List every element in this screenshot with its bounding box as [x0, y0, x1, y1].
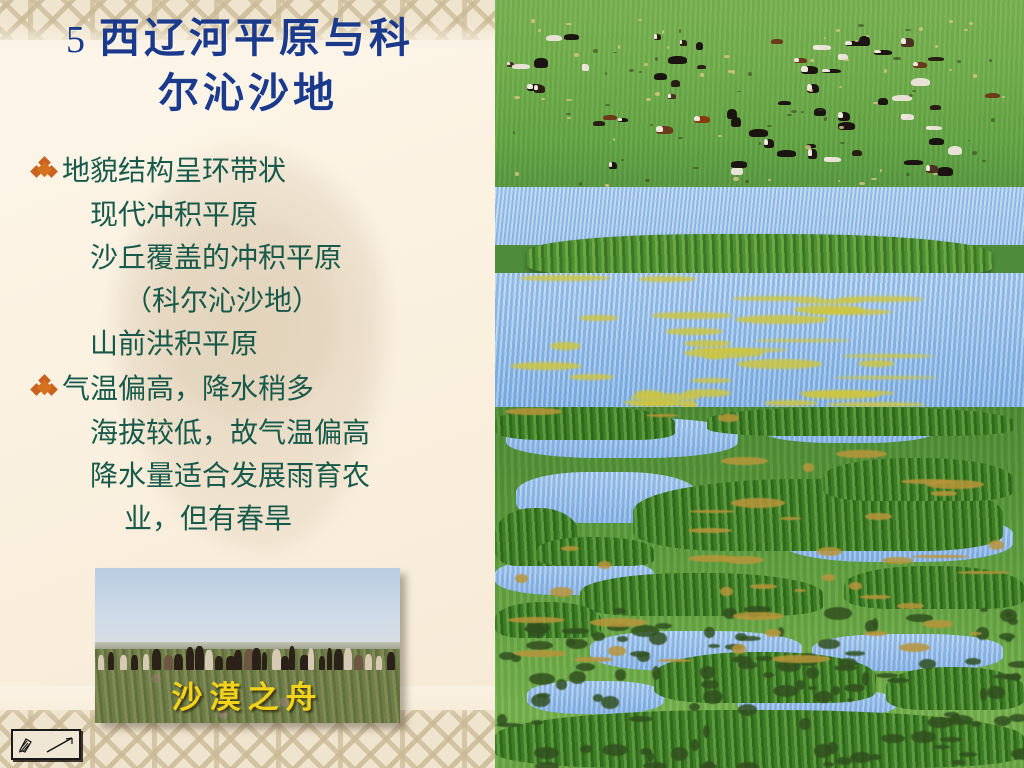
marsh-mud-clump — [703, 725, 710, 738]
camel — [120, 655, 127, 671]
camel — [131, 655, 138, 670]
marsh-mud-clump — [526, 641, 553, 650]
cow-marking — [656, 126, 663, 132]
marsh-mud-clump — [534, 747, 558, 759]
cow — [749, 129, 769, 137]
cow-marking — [845, 41, 853, 45]
marsh-straw-patch — [732, 644, 745, 653]
marsh-mud-clump — [808, 686, 817, 690]
marsh-mud-clump — [832, 686, 840, 695]
marsh-mud-clump — [535, 762, 559, 768]
marsh-mud-clump — [933, 745, 950, 749]
cow-marking — [822, 69, 830, 72]
ground-fleck — [972, 151, 978, 154]
marsh-mud-clump — [999, 633, 1015, 640]
cow-marking — [618, 118, 622, 121]
wetland-grassland-photo[interactable] — [495, 0, 1024, 768]
ground-fleck — [880, 169, 882, 171]
marsh-straw-patch — [731, 498, 785, 508]
marsh-mud-clump — [735, 633, 747, 640]
cow — [777, 150, 796, 157]
camel — [143, 654, 149, 670]
marsh-mud-clump — [839, 658, 857, 668]
photo-marsh-region — [495, 407, 1024, 768]
marsh-mud-clump — [700, 666, 715, 679]
marsh-mud-clump — [870, 754, 881, 760]
ground-fleck — [871, 178, 877, 181]
ground-fleck — [732, 70, 735, 73]
marsh-mud-clump — [940, 737, 962, 741]
cow — [731, 117, 741, 127]
marsh-mud-clump — [601, 696, 619, 709]
ground-fleck — [791, 110, 797, 113]
marsh-mud-clump — [845, 651, 865, 656]
ground-fleck — [514, 96, 520, 99]
ground-fleck — [824, 117, 827, 120]
camel-herd — [95, 636, 400, 670]
marsh-mud-clump — [806, 667, 819, 679]
cow — [603, 115, 617, 121]
cow-marking — [507, 62, 510, 65]
marsh-straw-patch — [561, 546, 578, 551]
ground-fleck — [838, 180, 840, 182]
marsh-mud-clump — [569, 671, 586, 684]
ground-fleck — [973, 74, 977, 77]
cow — [985, 93, 1000, 99]
ground-fleck — [613, 138, 615, 141]
marsh-mud-clump — [881, 734, 904, 743]
ground-fleck — [646, 98, 651, 101]
left-content-panel: 5西辽河平原与科 尔沁沙地 地貌结构呈环带状 现代冲积平原 沙丘覆盖的冲积平原 … — [0, 0, 495, 768]
marsh-straw-patch — [724, 556, 764, 564]
ground-fleck — [884, 69, 887, 73]
cow-marking — [913, 62, 919, 67]
reed-clump — [707, 407, 1014, 436]
marsh-mud-clump — [773, 685, 800, 697]
ground-fleck — [650, 124, 653, 126]
algae-patch — [834, 376, 937, 379]
marsh-straw-patch — [901, 479, 956, 484]
marsh-mud-clump — [818, 639, 839, 649]
ground-fleck — [678, 137, 683, 139]
ground-fleck — [991, 118, 995, 122]
algae-patch — [684, 340, 731, 347]
camel — [164, 655, 173, 671]
cow — [671, 80, 680, 87]
cow — [929, 138, 944, 145]
cow-marking — [801, 66, 808, 72]
title-number: 5 — [66, 19, 85, 61]
marsh-straw-patch — [733, 612, 784, 619]
algae-patch — [579, 315, 618, 321]
cow — [696, 42, 704, 51]
marsh-mud-clump — [1004, 674, 1021, 680]
marsh-straw-patch — [865, 513, 892, 520]
cow — [534, 58, 548, 67]
camel — [262, 652, 267, 671]
ground-fleck — [905, 29, 911, 31]
marsh-mud-clump — [952, 714, 960, 722]
bullet-heading: 气温偏高，降水稍多 — [62, 368, 314, 411]
algae-patch — [510, 362, 582, 370]
marsh-mud-clump — [763, 672, 773, 678]
title-text-1: 西辽河平原与科 — [99, 15, 414, 61]
bullet-subitem: 沙丘覆盖的冲积平原 — [90, 237, 477, 280]
algae-patch — [550, 342, 581, 351]
marsh-mud-clump — [1009, 714, 1024, 722]
pen-scribble-icon — [17, 736, 37, 754]
ground-fleck — [645, 179, 650, 182]
body-text-block: 地貌结构呈环带状 现代冲积平原 沙丘覆盖的冲积平原 （科尔沁沙地） 山前洪积平原… — [32, 150, 477, 543]
cow-marking — [694, 116, 700, 121]
marsh-straw-patch — [822, 574, 835, 580]
ground-fleck — [655, 57, 658, 61]
cow-marking — [838, 54, 842, 58]
algae-patch — [842, 354, 934, 358]
camel — [205, 650, 213, 670]
algae-patch — [569, 374, 614, 380]
cow — [937, 167, 953, 176]
ground-fleck — [839, 86, 842, 88]
marsh-straw-patch — [957, 571, 1010, 574]
marsh-mud-clump — [526, 622, 550, 634]
diamond-bullet-icon — [32, 158, 62, 188]
cow-marking — [764, 139, 768, 145]
bullet-group: 气温偏高，降水稍多 海拔较低，故气温偏高 降水量适合发展雨育农 业，但有春旱 — [32, 368, 477, 541]
camel-caravan-photo[interactable]: 沙漠之舟 — [95, 568, 400, 723]
marsh-mud-clump — [562, 628, 590, 633]
ground-fleck — [844, 59, 849, 61]
ground-fleck — [919, 27, 923, 31]
ground-fleck — [574, 53, 579, 57]
algae-patch — [858, 360, 896, 367]
ground-fleck — [935, 45, 938, 48]
camel — [252, 648, 262, 670]
algae-patch — [799, 390, 895, 396]
marsh-straw-patch — [970, 632, 981, 635]
cow — [697, 65, 706, 69]
marsh-mud-clump — [951, 760, 965, 765]
marsh-mud-clump — [629, 716, 653, 721]
camel — [334, 649, 343, 670]
bullet-heading-row: 气温偏高，降水稍多 — [32, 368, 477, 411]
camel — [387, 652, 395, 671]
ground-fleck — [618, 45, 620, 49]
ground-fleck — [724, 55, 729, 58]
ground-fleck — [896, 57, 901, 60]
marsh-mud-clump — [959, 752, 977, 757]
cow — [731, 161, 746, 167]
cow — [930, 105, 941, 109]
ground-fleck — [1002, 96, 1005, 98]
ground-fleck — [566, 23, 572, 25]
ground-fleck — [638, 19, 643, 21]
algae-patch — [638, 276, 696, 283]
ground-fleck — [989, 59, 992, 62]
camel — [234, 650, 242, 670]
camel — [308, 648, 314, 670]
cow-marking — [926, 126, 932, 129]
algae-patch — [794, 299, 863, 304]
marsh-mud-clump — [756, 656, 774, 661]
cow — [731, 167, 743, 175]
camel — [365, 654, 372, 671]
ground-fleck — [964, 29, 968, 31]
ground-fleck — [566, 99, 572, 101]
marsh-mud-clump — [592, 632, 605, 641]
marsh-mud-clump — [703, 690, 723, 704]
marsh-mud-clump — [827, 742, 838, 754]
marsh-mud-clump — [630, 651, 649, 657]
cow-marking — [838, 112, 843, 119]
ground-fleck — [855, 40, 858, 42]
ground-fleck — [982, 160, 985, 162]
marsh-straw-patch — [923, 620, 953, 629]
camel — [319, 656, 325, 670]
bullet-subitem: 山前洪积平原 — [90, 323, 477, 366]
marsh-straw-patch — [882, 557, 914, 564]
marsh-straw-patch — [574, 657, 612, 662]
marsh-mud-clump — [872, 618, 878, 630]
camel — [281, 656, 290, 670]
ground-fleck — [949, 20, 953, 22]
inset-photo-caption: 沙漠之舟 — [95, 672, 400, 717]
marsh-mud-clump — [876, 673, 898, 678]
ground-fleck — [859, 182, 864, 185]
cow-marking — [901, 114, 906, 118]
marsh-mud-clump — [652, 666, 660, 680]
ground-fleck — [768, 179, 771, 181]
ground-fleck — [613, 52, 617, 54]
marsh-mud-clump — [615, 669, 626, 681]
ground-fleck — [733, 177, 739, 181]
ground-fleck — [836, 29, 840, 32]
marsh-straw-patch — [750, 584, 778, 589]
slide-nav-button[interactable] — [11, 729, 81, 760]
reed-clump — [537, 537, 653, 566]
ground-fleck — [655, 92, 659, 96]
ground-fleck — [538, 29, 541, 32]
marsh-mud-clump — [847, 698, 853, 702]
ground-fleck — [593, 49, 598, 52]
title-line-2: 尔沁沙地 — [16, 66, 480, 120]
camel — [354, 655, 363, 671]
ground-fleck — [566, 113, 570, 116]
marsh-mud-clump — [850, 752, 872, 764]
camel — [152, 649, 161, 670]
bullet-subitem: （科尔沁沙地） — [124, 280, 477, 323]
cow-marking — [813, 45, 820, 48]
marsh-mud-clump — [796, 680, 805, 690]
marsh-mud-clump — [701, 680, 719, 689]
camel — [344, 648, 352, 670]
camel — [108, 652, 114, 670]
ground-fleck — [605, 72, 608, 76]
slide-title: 5西辽河平原与科 尔沁沙地 — [0, 12, 480, 120]
marsh-mud-clump — [691, 739, 699, 751]
marsh-mud-clump — [617, 636, 628, 642]
cow-marking — [654, 34, 657, 38]
camel — [327, 648, 332, 670]
algae-patch — [764, 400, 818, 406]
cow-marking — [874, 50, 881, 54]
camel — [215, 656, 224, 670]
camel — [174, 654, 183, 670]
ground-fleck — [621, 159, 624, 161]
camel — [186, 647, 195, 670]
marsh-mud-clump — [703, 761, 713, 768]
cow-marking — [824, 157, 831, 160]
cow — [911, 78, 931, 86]
marsh-mud-clump — [531, 694, 549, 707]
ground-fleck — [567, 117, 571, 119]
cow-marking — [534, 85, 538, 90]
marsh-straw-patch — [646, 414, 678, 417]
cow-marking — [582, 64, 585, 69]
bullet-group: 地貌结构呈环带状 现代冲积平原 沙丘覆盖的冲积平原 （科尔沁沙地） 山前洪积平原 — [32, 150, 477, 366]
ground-fleck — [969, 22, 973, 26]
camel — [195, 646, 203, 670]
ground-fleck — [949, 69, 952, 71]
ground-fleck — [801, 111, 804, 113]
marsh-straw-patch — [598, 561, 612, 568]
marsh-mud-clump — [736, 762, 759, 768]
algae-patch — [808, 309, 891, 315]
algae-patch — [684, 348, 765, 358]
camel — [376, 656, 381, 670]
marsh-mud-clump — [814, 691, 833, 703]
cow — [928, 57, 945, 61]
cow — [778, 101, 791, 105]
algae-patch — [624, 399, 684, 406]
ground-fleck — [909, 94, 913, 97]
ground-fleck — [513, 131, 515, 134]
ground-fleck — [906, 173, 910, 176]
marsh-mud-clump — [531, 720, 543, 725]
algae-patch — [826, 402, 926, 407]
marsh-straw-patch — [836, 450, 887, 458]
ground-fleck — [579, 182, 582, 186]
bullet-subitem: 业，但有春旱 — [124, 498, 477, 541]
marsh-straw-patch — [721, 457, 768, 465]
ground-fleck — [737, 91, 741, 93]
algae-patch — [519, 275, 611, 281]
marsh-mud-clump — [1008, 661, 1024, 667]
marsh-mud-clump — [593, 694, 604, 702]
marsh-straw-patch — [803, 463, 814, 472]
ground-fleck — [912, 90, 916, 92]
algae-patch — [651, 312, 733, 319]
cow — [904, 160, 923, 165]
marsh-straw-patch — [590, 618, 647, 627]
diamond-bullet-icon — [32, 376, 62, 406]
cow-marking — [901, 38, 906, 44]
cow — [771, 39, 783, 44]
marsh-mud-clump — [927, 717, 953, 729]
marsh-straw-patch — [505, 408, 561, 415]
ground-fleck — [605, 104, 610, 106]
cow — [727, 109, 737, 119]
bullet-subitem: 现代冲积平原 — [90, 194, 477, 237]
algae-patch — [735, 315, 829, 324]
ground-fleck — [957, 60, 961, 63]
cow-marking — [794, 58, 799, 61]
marsh-straw-patch — [608, 646, 625, 655]
bullet-heading-row: 地貌结构呈环带状 — [32, 150, 477, 193]
cow — [512, 64, 529, 69]
title-line-1: 5西辽河平原与科 — [0, 12, 480, 66]
marsh-mud-clump — [965, 658, 981, 665]
algae-patch — [737, 359, 822, 368]
ground-fleck — [858, 24, 864, 27]
cow — [668, 56, 687, 64]
marsh-mud-clump — [643, 762, 667, 768]
ground-fleck — [515, 172, 519, 176]
camel — [98, 655, 104, 671]
ground-fleck — [541, 98, 545, 100]
marsh-straw-patch — [514, 650, 567, 658]
cow-marking — [926, 165, 931, 170]
marsh-mud-clump — [862, 672, 870, 686]
ground-fleck — [748, 72, 752, 75]
marsh-straw-patch — [550, 587, 572, 597]
algae-patch — [754, 339, 851, 343]
photo-pasture-region — [495, 0, 1024, 188]
ground-fleck — [667, 46, 669, 49]
ground-fleck — [531, 19, 536, 23]
marsh-mud-clump — [824, 607, 852, 619]
ground-fleck — [693, 167, 699, 169]
marsh-mud-clump — [556, 679, 566, 689]
ground-fleck — [639, 71, 642, 73]
ground-fleck — [824, 37, 826, 39]
ground-fleck — [700, 73, 703, 77]
marsh-mud-clump — [704, 627, 714, 638]
marsh-straw-patch — [849, 582, 862, 590]
marsh-straw-patch — [688, 528, 732, 533]
slide-canvas: 5西辽河平原与科 尔沁沙地 地貌结构呈环带状 现代冲积平原 沙丘覆盖的冲积平原 … — [0, 0, 1024, 768]
marsh-straw-patch — [817, 547, 842, 556]
ground-fleck — [767, 125, 772, 127]
cow — [546, 35, 563, 42]
marsh-mud-clump — [576, 663, 595, 671]
marsh-mud-clump — [655, 623, 672, 629]
ground-fleck — [805, 145, 811, 149]
cow — [948, 146, 962, 156]
ground-fleck — [745, 180, 749, 183]
marsh-straw-patch — [772, 655, 830, 662]
marsh-mud-clump — [566, 639, 588, 649]
cow-marking — [527, 84, 533, 89]
bullet-subitem: 降水量适合发展雨育农 — [90, 455, 477, 498]
ground-fleck — [679, 29, 681, 33]
ground-fleck — [718, 135, 722, 137]
photo-main-water — [495, 273, 1024, 419]
marsh-straw-patch — [931, 491, 956, 495]
cow-marking — [668, 94, 671, 98]
ground-fleck — [662, 30, 665, 33]
cow — [564, 34, 579, 40]
ground-fleck — [810, 59, 814, 62]
marsh-mud-clump — [980, 608, 988, 613]
cow — [878, 98, 887, 105]
ground-fleck — [968, 140, 970, 142]
cow — [852, 150, 862, 156]
ground-fleck — [787, 114, 792, 116]
bullet-subitem: 海拔较低，故气温偏高 — [90, 412, 477, 455]
cow-marking — [808, 149, 811, 155]
cow — [654, 73, 667, 80]
